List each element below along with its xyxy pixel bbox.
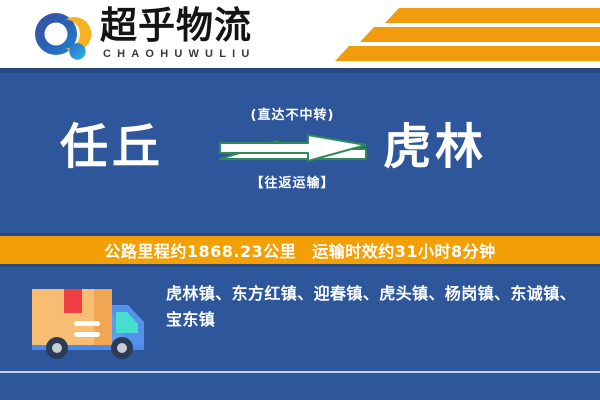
ground-line <box>0 371 600 373</box>
distance-text: 公路里程约1868.23公里 <box>104 238 296 262</box>
brand-name-en: CHAOHUWULIU <box>103 48 256 61</box>
round-trip-caption: 【往返运输】 <box>215 175 370 193</box>
coverage-panel: 虎林镇、东方红镇、迎春镇、虎头镇、杨岗镇、东诚镇、宝东镇 <box>0 267 600 400</box>
direct-shipping-caption: (直达不中转) <box>215 107 370 125</box>
header-stripes-decoration <box>335 6 600 64</box>
route-panel: 任丘 (直达不中转) 【往返运输】 虎林 <box>0 73 600 236</box>
origin-city: 任丘 <box>60 119 164 175</box>
info-bar-wrapper: 公路里程约1868.23公里 运输时效约31小时8分钟 <box>0 233 600 267</box>
stripe-1 <box>385 8 600 23</box>
duration-text: 运输时效约31小时8分钟 <box>312 238 495 262</box>
stripe-2 <box>360 27 600 42</box>
stripe-3 <box>335 46 600 61</box>
delivery-truck-icon <box>24 275 150 360</box>
header-bar: 超乎物流 CHAOHUWULIU <box>0 0 600 68</box>
info-bar: 公路里程约1868.23公里 运输时效约31小时8分钟 <box>0 236 600 264</box>
covered-towns-list: 虎林镇、东方红镇、迎春镇、虎头镇、杨岗镇、东诚镇、宝东镇 <box>166 281 584 333</box>
circle-crescent-logo-icon <box>32 10 94 62</box>
logistics-route-banner: 超乎物流 CHAOHUWULIU 任丘 (直达不中转) 【往返运输】 虎林 公路… <box>0 0 600 400</box>
route-middle-group: (直达不中转) 【往返运输】 <box>215 107 370 193</box>
destination-city: 虎林 <box>383 119 487 175</box>
double-headed-arrow-icon <box>218 133 368 169</box>
brand-name-cn: 超乎物流 <box>100 6 252 46</box>
